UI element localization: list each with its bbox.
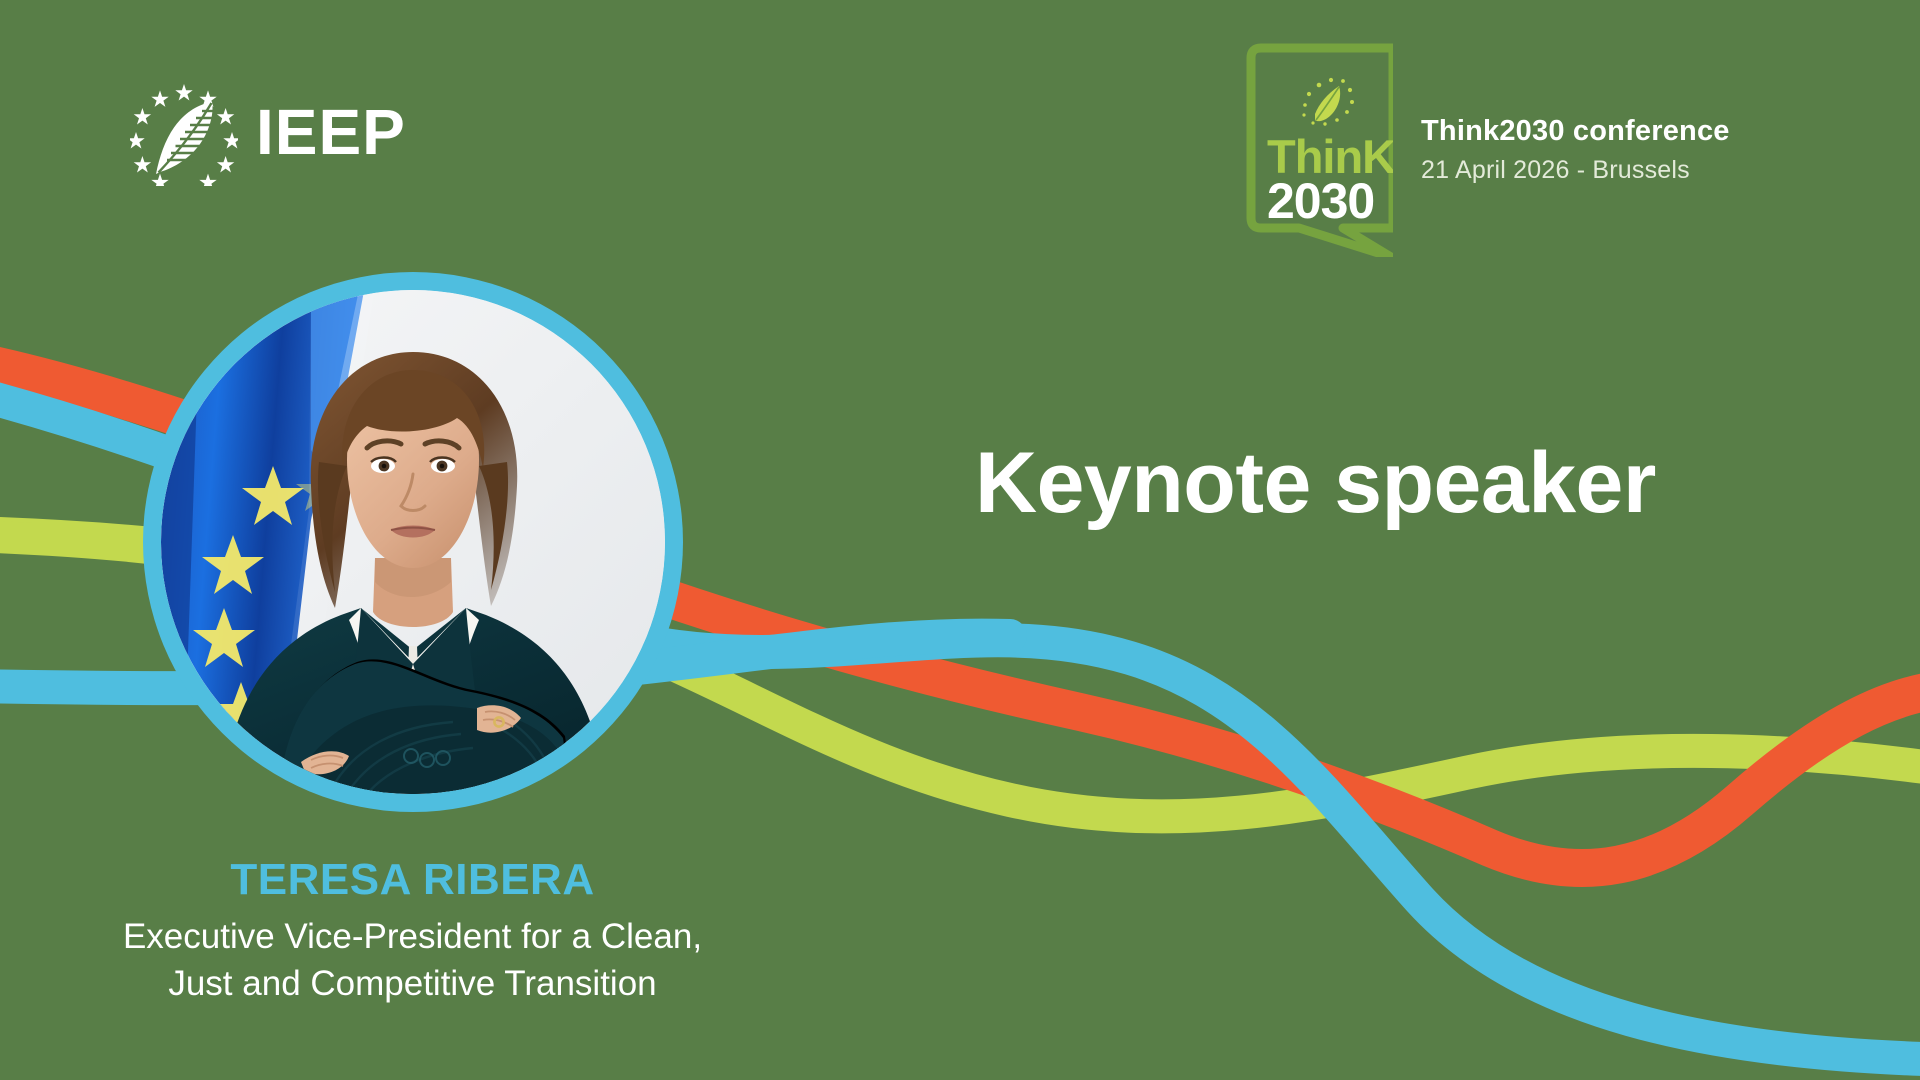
conference-title: Think2030 conference <box>1421 114 1730 149</box>
speaker-caption: TERESA RIBERA Executive Vice-President f… <box>0 856 825 1007</box>
portrait-image-clip <box>161 290 665 794</box>
think2030-lockup[interactable]: ThinK 2030 Think2030 conference 21 April… <box>1243 42 1730 257</box>
speaker-role-line-1: Executive Vice-President for a Clean, <box>0 914 825 960</box>
think-badge-line2: 2030 <box>1267 173 1374 229</box>
conference-date-location: 21 April 2026 - Brussels <box>1421 154 1730 188</box>
speaker-name: TERESA RIBERA <box>0 856 825 904</box>
conference-meta: Think2030 conference 21 April 2026 - Bru… <box>1421 42 1730 188</box>
ieep-wordmark: IEEP <box>256 100 406 164</box>
leaf-with-eu-stars-icon <box>130 78 238 186</box>
poster-canvas: IEEP <box>0 0 1920 1080</box>
speaker-portrait <box>143 272 683 812</box>
speaker-role-line-2: Just and Competitive Transition <box>0 961 825 1007</box>
speaker-photo <box>161 290 665 794</box>
ieep-logo[interactable]: IEEP <box>130 78 406 186</box>
think2030-badge: ThinK 2030 <box>1243 42 1393 257</box>
page-title: Keynote speaker <box>975 440 1656 526</box>
leaf-with-stars-icon <box>1302 78 1354 126</box>
